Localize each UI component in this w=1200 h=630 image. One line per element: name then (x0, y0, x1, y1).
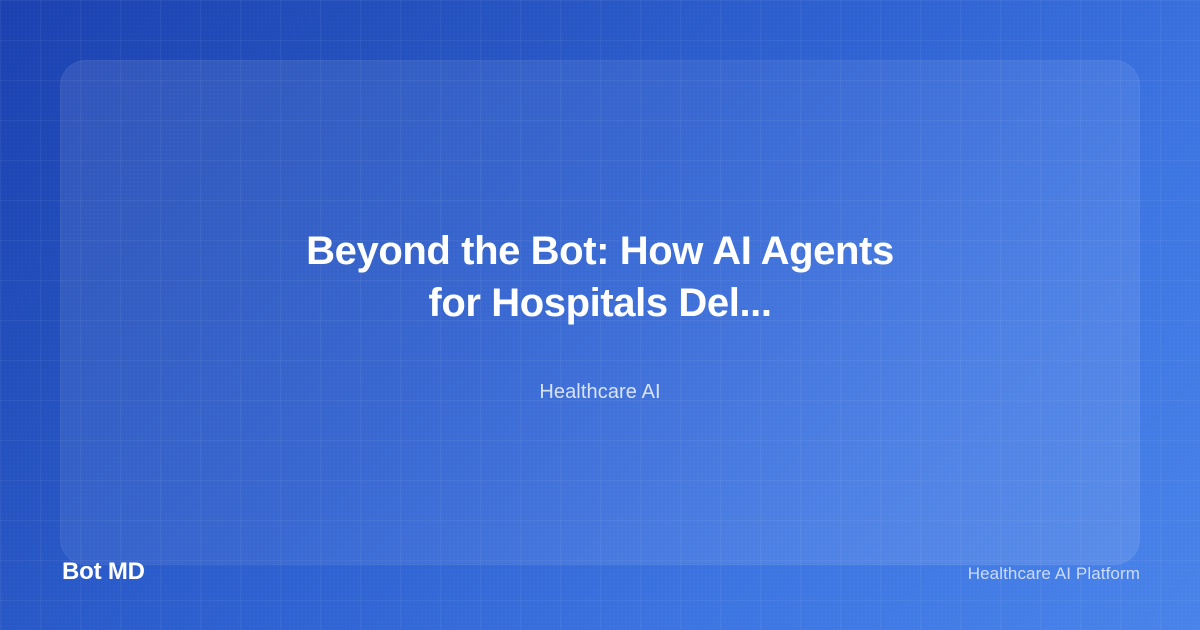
title-line-2: for Hospitals Del... (428, 281, 771, 325)
title-line-1: Beyond the Bot: How AI Agents (306, 229, 894, 273)
category-subtitle: Healthcare AI (539, 379, 660, 405)
footer-row: Bot MD Healthcare AI Platform (62, 558, 1140, 586)
hero-content-block: Beyond the Bot: How AI Agentsfor Hospita… (0, 0, 1200, 630)
brand-logo: Bot MD (62, 558, 145, 586)
page-title: Beyond the Bot: How AI Agentsfor Hospita… (250, 225, 950, 329)
footer-tagline: Healthcare AI Platform (968, 564, 1140, 584)
og-share-card: Beyond the Bot: How AI Agentsfor Hospita… (0, 0, 1200, 630)
